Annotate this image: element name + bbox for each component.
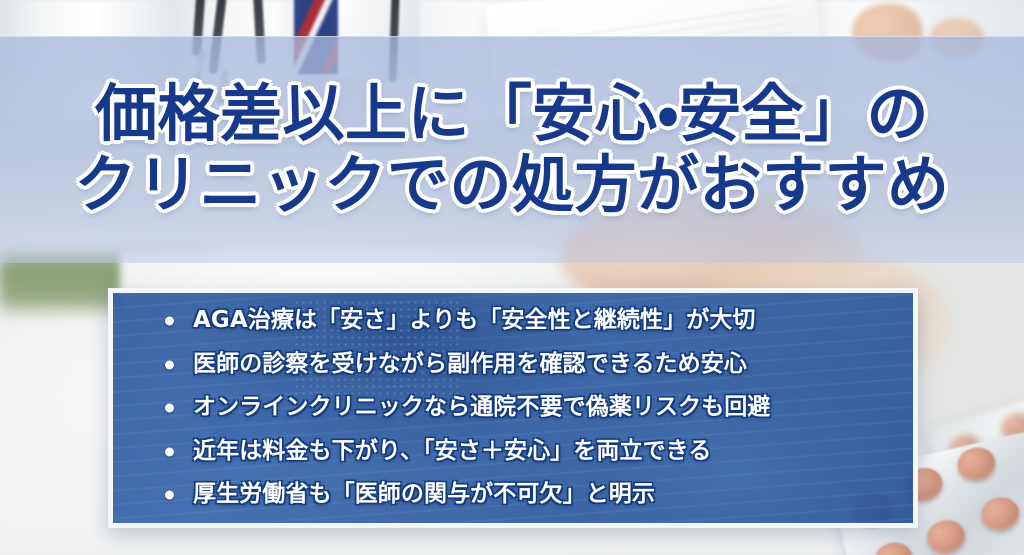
bullet-marker-icon — [165, 404, 174, 413]
headline-line-1: 価格差以上に「安心・安全」の — [95, 82, 929, 146]
summary-bullet-list: AGA治療は「安さ」よりも「安全性と継続性」が大切 医師の診察を受けながら副作用… — [113, 299, 913, 517]
list-item-label: AGA治療は「安さ」よりも「安全性と継続性」が大切 — [193, 307, 756, 333]
list-item: 医師の診察を受けながら副作用を確認できるため安心 — [193, 343, 913, 387]
bullet-marker-icon — [165, 447, 174, 456]
list-item-label: 近年は料金も下がり、「安さ＋安心」を両立できる — [193, 438, 711, 464]
bullet-marker-icon — [165, 360, 174, 369]
list-item-label: 医師の診察を受けながら副作用を確認できるため安心 — [193, 351, 747, 377]
bullet-marker-icon — [165, 317, 174, 326]
bullet-marker-icon — [165, 491, 174, 500]
list-item: 厚生労働省も「医師の関与が不可欠」と明示 — [193, 473, 913, 517]
headline-band: 価格差以上に「安心・安全」の クリニックでの処方がおすすめ — [0, 36, 1024, 263]
list-item-label: 厚生労働省も「医師の関与が不可欠」と明示 — [193, 481, 655, 507]
list-item: AGA治療は「安さ」よりも「安全性と継続性」が大切 — [193, 299, 913, 343]
banner-image: 価格差以上に「安心・安全」の クリニックでの処方がおすすめ AGA治療は「安さ」… — [0, 0, 1024, 555]
headline-text-group: 価格差以上に「安心・安全」の クリニックでの処方がおすすめ — [0, 36, 1024, 263]
summary-box: AGA治療は「安さ」よりも「安全性と継続性」が大切 医師の診察を受けながら副作用… — [108, 288, 918, 528]
list-item-label: オンラインクリニックなら通院不要で偽薬リスクも回避 — [193, 394, 771, 420]
list-item: オンラインクリニックなら通院不要で偽薬リスクも回避 — [193, 386, 913, 430]
list-item: 近年は料金も下がり、「安さ＋安心」を両立できる — [193, 430, 913, 474]
headline-line-2: クリニックでの処方がおすすめ — [74, 153, 949, 217]
